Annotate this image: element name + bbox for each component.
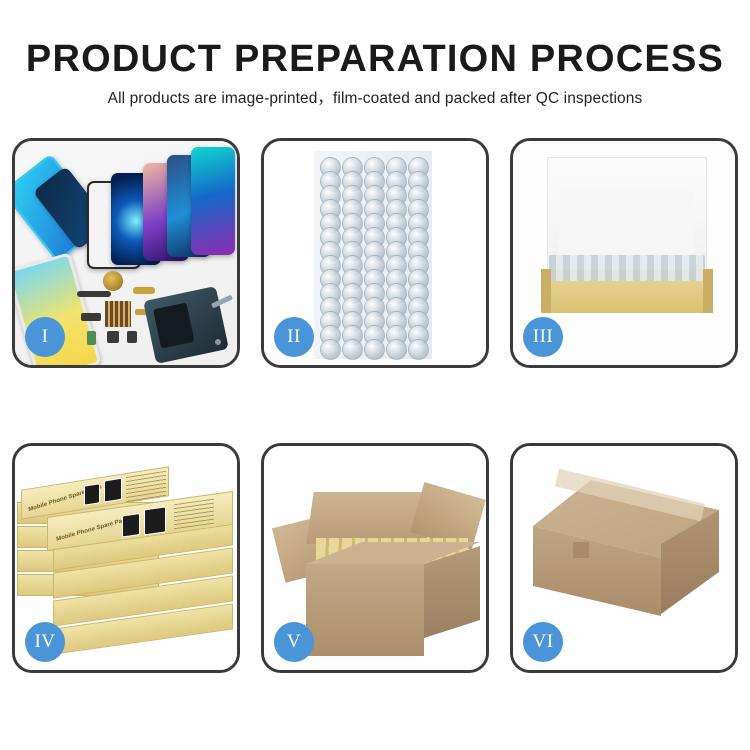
box-right-edge [703, 269, 713, 313]
step-badge-3: III [523, 317, 563, 357]
step-panel-3: III [510, 138, 738, 368]
step-5-image: V [264, 446, 486, 670]
box-screen-photo [144, 506, 166, 535]
box-spec-lines [174, 499, 214, 531]
carton-seam-icon [573, 542, 589, 558]
step-2-image: II [264, 141, 486, 365]
steps-grid: I [12, 138, 738, 690]
camera-module-icon [127, 331, 137, 343]
box-screen-photo [104, 478, 122, 503]
step-panel-1: I [12, 138, 240, 368]
step-badge-5: V [274, 622, 314, 662]
carton-front-icon [306, 564, 424, 656]
step-badge-1: I [25, 317, 65, 357]
step-badge-2: II [274, 317, 314, 357]
small-part-icon [81, 313, 101, 321]
box-screen-photo [122, 513, 140, 538]
product-preparation-infographic: PRODUCT PREPARATION PROCESS All products… [0, 0, 750, 750]
step-6-image: VI [513, 446, 735, 670]
box-screen-photo [84, 483, 100, 506]
step-badge-6: VI [523, 622, 563, 662]
step-4-image: Mobile Phone Spare Parts Mobile Phone Sp… [15, 446, 237, 670]
step-panel-6: VI [510, 443, 738, 673]
speaker-icon [107, 331, 119, 343]
flex-cable-icon [77, 291, 111, 297]
page-subtitle: All products are image-printed，film-coat… [0, 86, 750, 108]
vibration-motor-icon [103, 271, 123, 291]
box-spec-lines [126, 471, 166, 503]
screw-icon [215, 339, 221, 345]
step-1-image: I [15, 141, 237, 365]
battery-icon [87, 331, 96, 345]
chip-grid-icon [105, 301, 131, 327]
step-panel-2: II [261, 138, 489, 368]
phone-display-teal-icon [191, 147, 235, 255]
bubble-grid-icon [320, 157, 430, 353]
step-panel-4: Mobile Phone Spare Parts Mobile Phone Sp… [12, 443, 240, 673]
step-badge-4: IV [25, 622, 65, 662]
connector-icon [133, 287, 155, 294]
page-title: PRODUCT PREPARATION PROCESS [0, 38, 750, 81]
yellow-inner-box-icon [541, 269, 713, 313]
box-left-edge [541, 269, 551, 313]
step-panel-5: V [261, 443, 489, 673]
box-label: Mobile Phone Spare Parts [56, 516, 130, 542]
bubble-wrapped-contents-icon [549, 255, 705, 281]
step-3-image: III [513, 141, 735, 365]
